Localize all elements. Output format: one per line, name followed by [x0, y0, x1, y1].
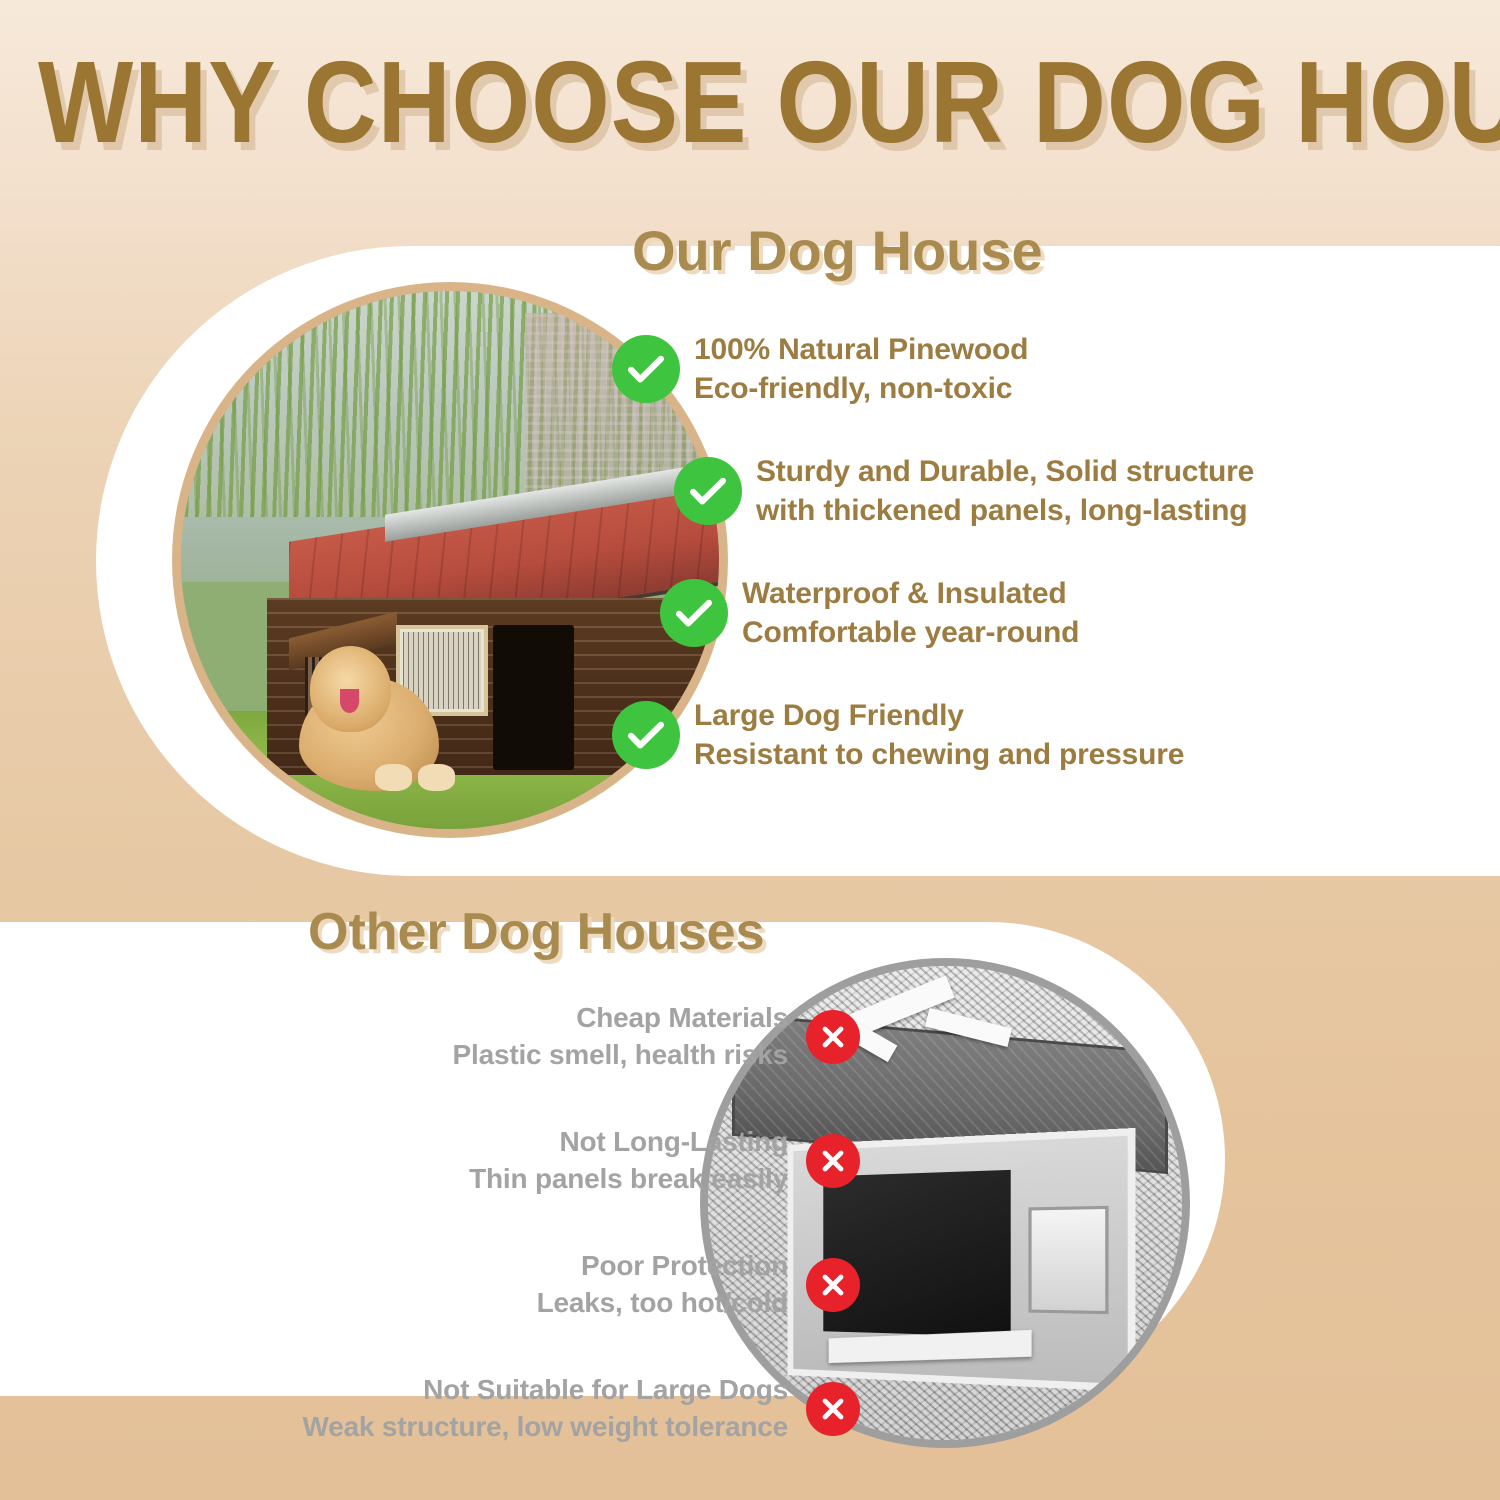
check-circle-icon	[612, 701, 680, 769]
list-item: 100% Natural Pinewood Eco-friendly, non-…	[612, 330, 1442, 408]
list-item: Not Long-Lasting Thin panels break easil…	[120, 1124, 860, 1198]
cross-circle-icon	[806, 1010, 860, 1064]
feature-line-2: with thickened panels, long-lasting	[756, 491, 1254, 530]
page-title: WHY CHOOSE OUR DOG HOUSE?"	[38, 44, 1500, 160]
feature-line-2: Eco-friendly, non-toxic	[694, 369, 1028, 408]
cross-circle-icon	[806, 1134, 860, 1188]
drawback-text: Not Suitable for Large Dogs Weak structu…	[302, 1372, 788, 1446]
check-circle-icon	[674, 457, 742, 525]
feature-line-1: 100% Natural Pinewood	[694, 333, 1028, 366]
drawback-text: Cheap Materials Plastic smell, health ri…	[453, 1000, 788, 1074]
feature-line-2: Resistant to chewing and pressure	[694, 735, 1184, 774]
list-item: Cheap Materials Plastic smell, health ri…	[120, 1000, 860, 1074]
list-item: Large Dog Friendly Resistant to chewing …	[612, 696, 1442, 774]
our-dog-house-heading: Our Dog House	[632, 218, 1043, 283]
drawback-line-2: Plastic smell, health risks	[453, 1037, 788, 1074]
cross-circle-icon	[806, 1382, 860, 1436]
feature-line-1: Waterproof & Insulated	[742, 577, 1067, 610]
title-band: WHY CHOOSE OUR DOG HOUSE?"	[0, 0, 1500, 190]
feature-text: Waterproof & Insulated Comfortable year-…	[742, 574, 1079, 652]
drawback-line-1: Cheap Materials	[576, 1002, 788, 1033]
check-circle-icon	[612, 335, 680, 403]
list-item: Poor Protection Leaks, too hot/cold	[120, 1248, 860, 1322]
other-dog-houses-heading: Other Dog Houses	[308, 902, 765, 962]
drawback-line-1: Not Long-Lasting	[559, 1126, 788, 1157]
drawback-line-2: Weak structure, low weight tolerance	[302, 1409, 788, 1446]
list-item: Sturdy and Durable, Solid structure with…	[674, 452, 1442, 530]
feature-text: Sturdy and Durable, Solid structure with…	[756, 452, 1254, 530]
feature-line-2: Comfortable year-round	[742, 613, 1079, 652]
our-features-list: 100% Natural Pinewood Eco-friendly, non-…	[612, 330, 1442, 818]
feature-text: Large Dog Friendly Resistant to chewing …	[694, 696, 1184, 774]
drawback-text: Poor Protection Leaks, too hot/cold	[537, 1248, 788, 1322]
drawback-line-2: Thin panels break easily	[469, 1161, 788, 1198]
drawback-text: Not Long-Lasting Thin panels break easil…	[469, 1124, 788, 1198]
feature-text: 100% Natural Pinewood Eco-friendly, non-…	[694, 330, 1028, 408]
feature-line-1: Large Dog Friendly	[694, 699, 964, 732]
drawback-line-1: Not Suitable for Large Dogs	[423, 1374, 788, 1405]
feature-line-1: Sturdy and Durable, Solid structure	[756, 455, 1254, 488]
cross-circle-icon	[806, 1258, 860, 1312]
list-item: Not Suitable for Large Dogs Weak structu…	[120, 1372, 860, 1446]
check-circle-icon	[660, 579, 728, 647]
other-drawbacks-list: Cheap Materials Plastic smell, health ri…	[120, 1000, 860, 1496]
drawback-line-1: Poor Protection	[581, 1250, 788, 1281]
drawback-line-2: Leaks, too hot/cold	[537, 1285, 788, 1322]
comparison-infographic: WHY CHOOSE OUR DOG HOUSE?" Our Dog House	[0, 0, 1500, 1500]
list-item: Waterproof & Insulated Comfortable year-…	[660, 574, 1442, 652]
